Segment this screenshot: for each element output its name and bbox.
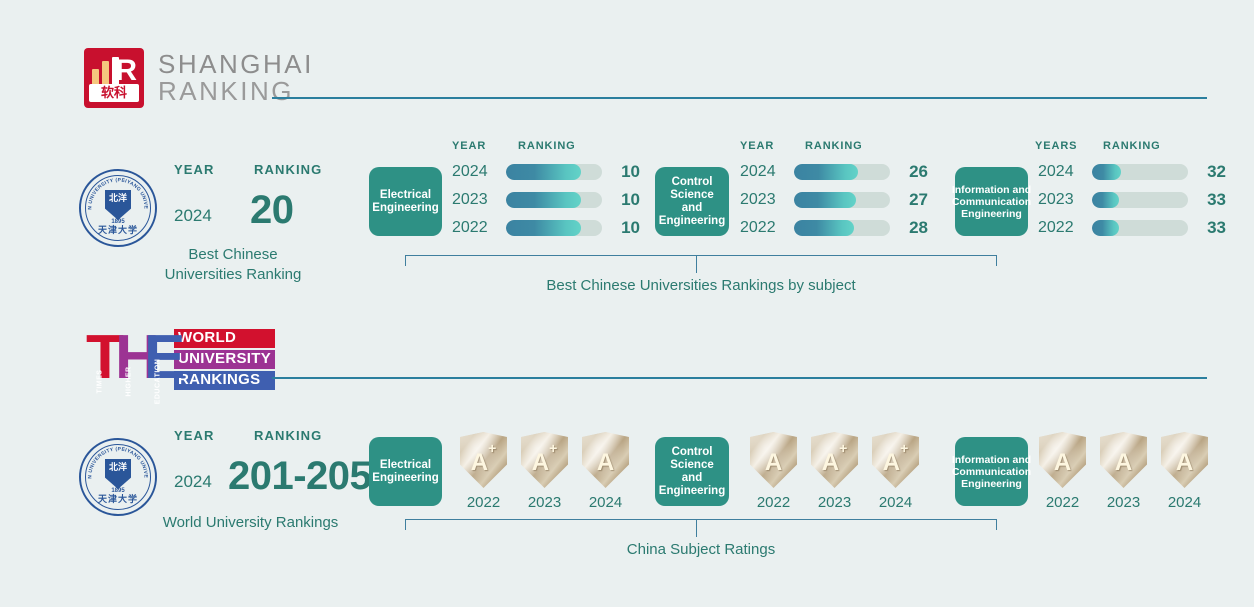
shield-icon: A — [1039, 432, 1086, 488]
subject-box-electrical-engineering[interactable]: Electrical Engineering — [369, 167, 442, 236]
rating-grade: A+ — [521, 444, 568, 475]
row-year: 2023 — [1038, 191, 1078, 209]
seal-chinese-name: 天津大学 — [81, 492, 155, 505]
rank-bar — [506, 192, 602, 208]
rating-grade: A — [750, 444, 797, 475]
col-header-year-3: YEARS — [1035, 140, 1077, 152]
rank-row: 2024 10 — [452, 162, 640, 182]
row-rank: 28 — [902, 218, 928, 238]
bracket-label-the: China Subject Ratings — [405, 541, 997, 558]
header-divider-bottom — [272, 377, 1207, 379]
summary-caption-the: World University Rankings — [143, 513, 358, 533]
rank-bar — [506, 220, 602, 236]
row-year: 2022 — [452, 219, 492, 237]
bracket-tick-right — [996, 519, 997, 530]
col-header-year-2: YEAR — [740, 140, 774, 152]
bracket-tick-left — [405, 519, 406, 530]
rank-bar — [794, 192, 890, 208]
rating-year: 2023 — [1100, 494, 1147, 511]
the-word-rankings: RANKINGS — [174, 371, 275, 390]
the-wur-logo: T TIMES H HIGHER E EDUCATION WORLD UNIVE… — [86, 332, 275, 387]
summary-shanghai: YEAR RANKING 2024 20 — [166, 162, 301, 232]
row-year: 2022 — [1038, 219, 1078, 237]
rank-row: 2023 10 — [452, 190, 640, 210]
the-word-world: WORLD — [174, 329, 275, 348]
subject-box-electrical-engineering[interactable]: Electrical Engineering — [369, 437, 442, 506]
rank-row: 2023 27 — [740, 190, 928, 210]
rating-grade: A — [1161, 444, 1208, 475]
subject-box-information-communication[interactable]: Information and Communication Engineerin… — [955, 437, 1028, 506]
rating-badge: A 2024 — [1161, 432, 1208, 511]
summary-caption-shanghai: Best Chinese Universities Ranking — [143, 245, 323, 285]
rank-bar — [1092, 164, 1188, 180]
shield-icon: A — [1100, 432, 1147, 488]
rating-badge: A+ 2023 — [521, 432, 568, 511]
rank-bar — [794, 164, 890, 180]
bracket-tick-right — [996, 255, 997, 266]
row-rank: 33 — [1200, 218, 1226, 238]
shield-icon: A — [750, 432, 797, 488]
bracket-label-shanghai: Best Chinese Universities Rankings by su… — [405, 277, 997, 294]
rank-bar — [1092, 220, 1188, 236]
bracket-shanghai: Best Chinese Universities Rankings by su… — [405, 255, 997, 295]
row-rank: 27 — [902, 190, 928, 210]
rating-badge: A+ 2022 — [460, 432, 507, 511]
ranking-value: 20 — [250, 188, 294, 232]
row-year: 2023 — [452, 191, 492, 209]
rating-year: 2024 — [582, 494, 629, 511]
subject-box-control-science[interactable]: Control Science and Engineering — [655, 437, 729, 506]
shield-icon: A — [1161, 432, 1208, 488]
ranking-value: 201-205 — [228, 454, 371, 498]
logo-word-shanghai: SHANGHAI — [158, 51, 314, 78]
shield-icon: A+ — [811, 432, 858, 488]
the-vertical-education: EDUCATION — [154, 359, 161, 405]
the-letter-e: E EDUCATION — [144, 332, 171, 387]
row-year: 2023 — [740, 191, 780, 209]
shanghairanking-mark-icon: R 软科 — [84, 48, 144, 108]
bracket-the: China Subject Ratings — [405, 519, 997, 559]
year-label: YEAR — [174, 162, 215, 177]
the-word-university: UNIVERSITY — [174, 350, 275, 369]
rating-year: 2023 — [521, 494, 568, 511]
row-rank: 10 — [614, 218, 640, 238]
rank-bar — [506, 164, 602, 180]
seal-chinese-name: 天津大学 — [81, 223, 155, 236]
university-seal: TIANJIN UNIVERSITY (PEIYANG UNIVERSITY) … — [79, 169, 157, 247]
shield-icon: A+ — [521, 432, 568, 488]
rating-year: 2024 — [1161, 494, 1208, 511]
row-rank: 10 — [614, 190, 640, 210]
row-year: 2022 — [740, 219, 780, 237]
rating-grade: A — [582, 444, 629, 475]
row-year: 2024 — [740, 163, 780, 181]
rating-badge: A 2022 — [1039, 432, 1086, 511]
rank-row: 2022 33 — [1038, 218, 1226, 238]
rank-row: 2024 26 — [740, 162, 928, 182]
rank-row: 2022 10 — [452, 218, 640, 238]
rating-grade: A+ — [872, 444, 919, 475]
year-label: YEAR — [174, 428, 215, 443]
rating-badge: A+ 2024 — [872, 432, 919, 511]
bracket-line — [405, 519, 997, 520]
row-year: 2024 — [1038, 163, 1078, 181]
the-letter-t: T TIMES — [86, 332, 113, 387]
shield-icon: A+ — [872, 432, 919, 488]
rating-badge: A 2024 — [582, 432, 629, 511]
rating-grade: A+ — [811, 444, 858, 475]
bracket-tick-center — [696, 519, 697, 537]
rating-grade: A — [1039, 444, 1086, 475]
col-header-ranking-1: RANKING — [518, 140, 576, 152]
rank-row: 2022 28 — [740, 218, 928, 238]
rating-grade: A+ — [460, 444, 507, 475]
rating-year: 2022 — [750, 494, 797, 511]
the-vertical-times: TIMES — [96, 370, 103, 394]
rank-row: 2023 33 — [1038, 190, 1226, 210]
summary-the: YEAR RANKING 2024 201-205 — [166, 428, 366, 498]
shanghairanking-logo: R 软科 SHANGHAI RANKING — [84, 48, 314, 108]
rating-badge: A 2022 — [750, 432, 797, 511]
subject-box-information-communication[interactable]: Information and Communication Engineerin… — [955, 167, 1028, 236]
rating-year: 2022 — [460, 494, 507, 511]
ranking-label: RANKING — [254, 162, 322, 177]
col-header-ranking-2: RANKING — [805, 140, 863, 152]
row-year: 2024 — [452, 163, 492, 181]
row-rank: 32 — [1200, 162, 1226, 182]
rating-year: 2022 — [1039, 494, 1086, 511]
rating-year: 2023 — [811, 494, 858, 511]
rank-bar — [1092, 192, 1188, 208]
bracket-tick-left — [405, 255, 406, 266]
rank-bar — [794, 220, 890, 236]
the-vertical-higher: HIGHER — [125, 366, 132, 396]
the-letter-h: H HIGHER — [115, 332, 142, 387]
logo-letter-r: R — [115, 56, 137, 86]
bracket-line — [405, 255, 997, 256]
rating-badge: A 2023 — [1100, 432, 1147, 511]
year-value: 2024 — [174, 472, 212, 492]
shield-icon: A+ — [460, 432, 507, 488]
ranking-label: RANKING — [254, 428, 322, 443]
col-header-year-1: YEAR — [452, 140, 486, 152]
subject-box-control-science[interactable]: Control Science and Engineering — [655, 167, 729, 236]
rating-year: 2024 — [872, 494, 919, 511]
rating-grade: A — [1100, 444, 1147, 475]
shield-icon: A — [582, 432, 629, 488]
row-rank: 26 — [902, 162, 928, 182]
rank-row: 2024 32 — [1038, 162, 1226, 182]
col-header-ranking-3: RANKING — [1103, 140, 1161, 152]
bracket-tick-center — [696, 255, 697, 273]
logo-word-ranking: RANKING — [158, 78, 314, 105]
rating-badge: A+ 2023 — [811, 432, 858, 511]
year-value: 2024 — [174, 206, 212, 226]
header-divider-top — [272, 97, 1207, 99]
logo-chinese-name: 软科 — [89, 84, 139, 102]
row-rank: 10 — [614, 162, 640, 182]
university-seal: TIANJIN UNIVERSITY (PEIYANG UNIVERSITY) … — [79, 438, 157, 516]
row-rank: 33 — [1200, 190, 1226, 210]
